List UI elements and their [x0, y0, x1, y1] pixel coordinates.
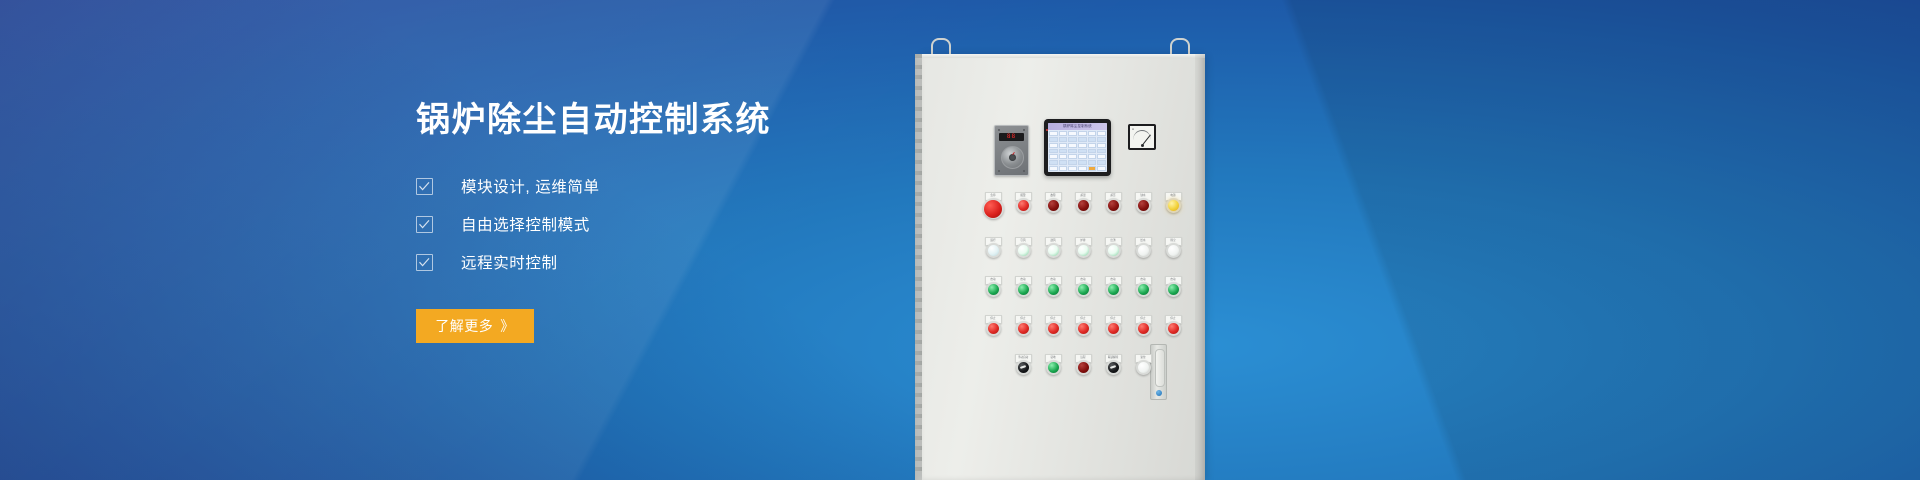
vfd-led-display: 88 [999, 133, 1024, 141]
hmi-grid-cell [1059, 160, 1068, 165]
button-cap[interactable] [1048, 200, 1059, 211]
button-cap[interactable] [1168, 284, 1179, 295]
button-cap[interactable] [1078, 323, 1089, 334]
button-bezel[interactable] [1166, 321, 1181, 336]
button-bezel[interactable] [1046, 282, 1061, 297]
analog-ammeter: A [1128, 124, 1156, 150]
selector-switch[interactable]: 手动自动 [1008, 354, 1038, 375]
hmi-grid-cell [1049, 160, 1058, 165]
start-button[interactable]: 启动 [978, 276, 1008, 297]
button-bezel[interactable] [986, 321, 1001, 336]
stop-button[interactable]: 停止 [1128, 315, 1158, 336]
button-cap[interactable] [1048, 284, 1059, 295]
hmi-grid-cell [1088, 137, 1097, 142]
button-bezel[interactable] [1076, 321, 1091, 336]
hmi-grid-cell [1059, 143, 1068, 148]
hmi-grid-cell [1049, 131, 1058, 136]
control-cabinet: 88 锅炉除尘控制系统 A [915, 38, 1205, 480]
vfd-display-value: 88 [1007, 134, 1016, 140]
button-bezel[interactable] [986, 282, 1001, 297]
check-box-icon [416, 178, 433, 195]
button-cap[interactable] [988, 284, 999, 295]
button-bezel[interactable] [1106, 198, 1121, 213]
hmi-grid-cell [1068, 143, 1077, 148]
button-cap[interactable] [1018, 284, 1029, 295]
button-cap[interactable] [988, 245, 999, 256]
hmi-grid-row [1049, 137, 1106, 142]
button-cap[interactable] [1138, 245, 1149, 256]
hmi-grid-cell [1078, 143, 1087, 148]
button-cap[interactable] [1048, 362, 1059, 373]
button-bezel[interactable] [1076, 243, 1091, 258]
button-cap[interactable] [1018, 362, 1029, 373]
handle-slot [1155, 349, 1165, 387]
start-button[interactable]: 启动 [1068, 276, 1098, 297]
button-cap[interactable] [1138, 200, 1149, 211]
start-button[interactable]: 启动 [1128, 276, 1158, 297]
cabinet-top-edge [922, 54, 1205, 58]
hmi-touch-screen[interactable]: 锅炉除尘控制系统 [1044, 119, 1111, 176]
indicator-lamp[interactable]: 炉排 [1068, 237, 1098, 258]
hmi-grid-cell [1078, 131, 1087, 136]
stop-button[interactable]: 停止 [1008, 315, 1038, 336]
indicator-lamp[interactable]: 引风 [1008, 237, 1038, 258]
ammeter-face: A [1130, 126, 1154, 148]
stop-button[interactable]: 停止 [978, 315, 1008, 336]
hmi-grid-cell [1078, 154, 1087, 159]
button-cap[interactable] [1168, 245, 1179, 256]
hmi-data-grid [1048, 130, 1107, 172]
indicator-lamp[interactable]: 超压 [1098, 192, 1128, 219]
start-button[interactable]: 启动 [1038, 276, 1068, 297]
indicator-lamp[interactable]: 鼓风 [1038, 237, 1068, 258]
button-bezel[interactable] [1136, 321, 1151, 336]
hmi-grid-cell [1097, 143, 1106, 148]
button-cap[interactable] [1078, 200, 1089, 211]
hmi-grid-cell [1059, 149, 1068, 154]
hmi-grid-cell [1088, 160, 1097, 165]
start-button[interactable]: 启动 [1158, 276, 1188, 297]
learn-more-button[interactable]: 了解更多 》 [416, 309, 534, 343]
speed-controller[interactable]: 88 [994, 125, 1029, 176]
hmi-grid-cell [1088, 143, 1097, 148]
button-bezel[interactable] [1016, 282, 1031, 297]
indicator-lamp[interactable]: 缺水 [1128, 192, 1158, 219]
button-bezel[interactable] [1166, 282, 1181, 297]
button-cap[interactable] [1108, 323, 1119, 334]
hmi-screen-title-bar: 锅炉除尘控制系统 [1048, 123, 1107, 130]
indicator-lamp[interactable]: 运行 [978, 237, 1008, 258]
button-cap[interactable] [1138, 323, 1149, 334]
hmi-grid-cell [1059, 166, 1068, 171]
cabinet-door: 88 锅炉除尘控制系统 A [922, 54, 1205, 480]
button-bezel[interactable] [1136, 198, 1151, 213]
button-cap[interactable] [1108, 245, 1119, 256]
hmi-grid-cell [1078, 166, 1087, 171]
button-cap[interactable] [1108, 284, 1119, 295]
screw-icon [1023, 129, 1025, 131]
stop-button[interactable]: 停止 [1038, 315, 1068, 336]
button-bezel[interactable] [1076, 360, 1091, 375]
button-bezel[interactable] [1166, 198, 1181, 213]
learn-more-label: 了解更多 [435, 316, 493, 336]
indicator-lamp[interactable]: 就地 [1038, 354, 1068, 375]
page-title: 锅炉除尘自动控制系统 [416, 102, 886, 139]
feature-label: 远程实时控制 [461, 251, 558, 273]
button-bezel[interactable] [1166, 243, 1181, 258]
screw-icon [998, 129, 1000, 131]
hmi-grid-cell [1078, 149, 1087, 154]
cylinder-lock-icon[interactable] [1156, 390, 1162, 396]
indicator-lamp[interactable]: 远程 [1068, 354, 1098, 375]
hmi-grid-cell [1068, 166, 1077, 171]
hmi-grid-row [1049, 160, 1106, 165]
button-bezel[interactable] [1136, 243, 1151, 258]
hmi-grid-cell [1078, 137, 1087, 142]
hmi-grid-cell [1097, 131, 1106, 136]
button-bezel[interactable] [1106, 321, 1121, 336]
indicator-lamp[interactable]: 出渣 [1098, 237, 1128, 258]
banner-copy: 锅炉除尘自动控制系统 模块设计, 运维简单 自由选择控制模式 远程实时控制 [416, 102, 886, 343]
button-cap[interactable] [1108, 362, 1119, 373]
hmi-grid-row [1049, 149, 1106, 154]
power-led-icon [1046, 129, 1048, 131]
button-cap[interactable] [1048, 245, 1059, 256]
indicator-lamp[interactable]: 除尘 [1158, 237, 1188, 258]
hmi-grid-cell [1097, 154, 1106, 159]
button-cap[interactable] [1078, 362, 1089, 373]
indicator-lamp[interactable]: 电源 [1158, 192, 1188, 219]
list-item: 模块设计, 运维简单 [416, 175, 886, 197]
check-box-icon [416, 216, 433, 233]
door-handle[interactable] [1150, 344, 1167, 400]
cabinet-right-edge [1195, 54, 1205, 480]
ammeter-hub [1141, 144, 1144, 147]
hmi-grid-row [1049, 131, 1106, 136]
hmi-grid-row [1049, 143, 1106, 148]
hmi-grid-cell [1068, 160, 1077, 165]
hmi-grid-cell [1068, 154, 1077, 159]
stop-button[interactable]: 停止 [1098, 315, 1128, 336]
button-bezel[interactable] [1046, 321, 1061, 336]
button-bezel[interactable] [1136, 360, 1151, 375]
check-box-icon [416, 254, 433, 271]
button-bezel[interactable] [1046, 360, 1061, 375]
hmi-grid-cell [1049, 166, 1058, 171]
button-bezel[interactable] [1076, 282, 1091, 297]
hmi-grid-cell [1068, 137, 1077, 142]
hmi-screen-title: 锅炉除尘控制系统 [1063, 125, 1092, 128]
button-cap[interactable] [1168, 323, 1179, 334]
button-bezel[interactable] [1016, 360, 1031, 375]
button-bezel[interactable] [986, 243, 1001, 258]
indicator-lamp[interactable]: 超温 [1068, 192, 1098, 219]
hmi-grid-cell [1088, 149, 1097, 154]
button-cap[interactable] [984, 200, 1002, 218]
stop-button[interactable]: 停止 [1158, 315, 1188, 336]
hmi-grid-cell [1097, 166, 1106, 171]
status-lamp-row: 运行引风鼓风炉排出渣给水除尘 [978, 237, 1188, 258]
button-bezel[interactable] [983, 198, 1004, 219]
indicator-lamp[interactable]: 故障 [1038, 192, 1068, 219]
stop-button[interactable]: 停止 [1068, 315, 1098, 336]
button-cap[interactable] [1108, 200, 1119, 211]
hmi-grid-cell [1097, 137, 1106, 142]
button-cap[interactable] [1018, 200, 1029, 211]
feature-list: 模块设计, 运维简单 自由选择控制模式 远程实时控制 [416, 175, 886, 273]
stop-button-row: 停止停止停止停止停止停止停止 [978, 315, 1188, 336]
button-bezel[interactable] [1046, 243, 1061, 258]
hmi-grid-cell [1088, 166, 1097, 171]
button-cap[interactable] [1138, 284, 1149, 295]
hmi-grid-cell [1059, 154, 1068, 159]
feature-label: 模块设计, 运维简单 [461, 175, 600, 197]
feature-label: 自由选择控制模式 [461, 213, 590, 235]
hmi-grid-cell [1068, 149, 1077, 154]
button-bezel[interactable] [1106, 243, 1121, 258]
emergency-stop-button[interactable]: 急停 [978, 192, 1008, 219]
hmi-grid-row [1049, 154, 1106, 159]
button-bezel[interactable] [1106, 282, 1121, 297]
button-bezel[interactable] [1016, 243, 1031, 258]
button-cap[interactable] [1048, 323, 1059, 334]
button-bezel[interactable] [1016, 321, 1031, 336]
list-item: 远程实时控制 [416, 251, 886, 273]
hero-banner: 锅炉除尘自动控制系统 模块设计, 运维简单 自由选择控制模式 远程实时控制 [0, 0, 1920, 480]
hmi-grid-cell [1059, 131, 1068, 136]
hmi-grid-cell [1049, 154, 1058, 159]
list-item: 自由选择控制模式 [416, 213, 886, 235]
button-bezel[interactable] [1136, 282, 1151, 297]
hmi-screen-content: 锅炉除尘控制系统 [1048, 123, 1107, 172]
screw-icon [1023, 170, 1025, 172]
chevron-right-icon: 》 [500, 316, 515, 336]
hmi-grid-cell [1059, 137, 1068, 142]
hmi-grid-cell [1088, 131, 1097, 136]
screw-icon [998, 170, 1000, 172]
button-bezel[interactable] [1046, 198, 1061, 213]
button-cap[interactable] [1168, 200, 1179, 211]
button-cap[interactable] [1018, 245, 1029, 256]
ammeter-scale-label: A [1132, 127, 1134, 131]
button-cap[interactable] [1138, 362, 1149, 373]
indicator-lamp[interactable]: 报警 [1008, 192, 1038, 219]
button-bezel[interactable] [1076, 198, 1091, 213]
button-cap[interactable] [1078, 245, 1089, 256]
button-cap[interactable] [1018, 323, 1029, 334]
start-button[interactable]: 启动 [1098, 276, 1128, 297]
hmi-grid-cell [1049, 137, 1058, 142]
hmi-grid-cell [1097, 160, 1106, 165]
rotary-dial-knob[interactable] [1001, 146, 1024, 169]
hmi-grid-row [1049, 166, 1106, 171]
emergency-and-alarm-row: 急停报警故障超温超压缺水电源 [978, 192, 1188, 219]
button-bezel[interactable] [1106, 360, 1121, 375]
indicator-lamp[interactable]: 给水 [1128, 237, 1158, 258]
hmi-grid-cell [1088, 154, 1097, 159]
start-button[interactable]: 启动 [1008, 276, 1038, 297]
hmi-grid-cell [1049, 143, 1058, 148]
button-cap[interactable] [1078, 284, 1089, 295]
button-cap[interactable] [988, 323, 999, 334]
button-bezel[interactable] [1016, 198, 1031, 213]
hmi-grid-cell [1068, 131, 1077, 136]
start-button-row: 启动启动启动启动启动启动启动 [978, 276, 1188, 297]
hmi-grid-cell [1049, 149, 1058, 154]
hmi-grid-cell [1097, 149, 1106, 154]
selector-switch[interactable]: 联锁解除 [1098, 354, 1128, 375]
hmi-grid-cell [1078, 160, 1087, 165]
